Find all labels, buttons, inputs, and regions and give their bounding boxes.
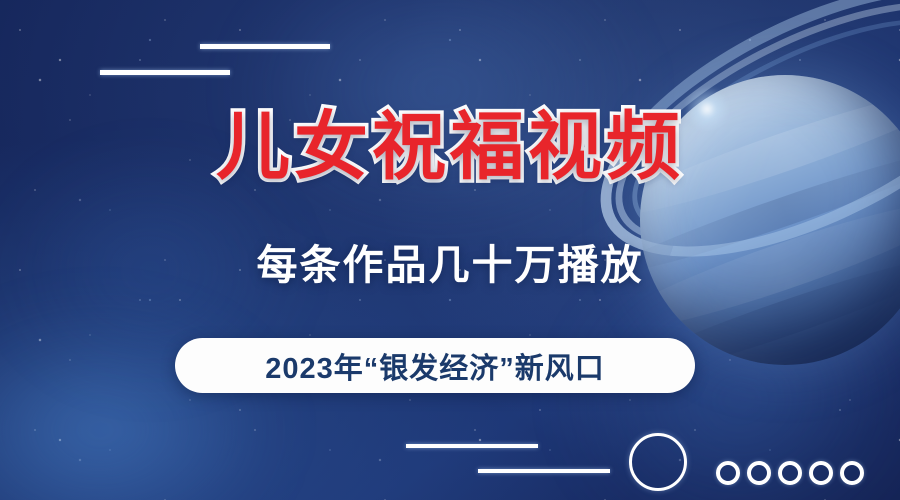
dot-ring-icon xyxy=(840,461,864,485)
dot-ring-icon xyxy=(747,461,771,485)
status-badge-label: 2023年“银发经济”新风口 xyxy=(265,345,605,387)
ringed-planet-icon xyxy=(600,0,900,390)
subtitle: 每条作品几十万播放 xyxy=(0,240,900,290)
status-badge: 2023年“银发经济”新风口 xyxy=(175,338,695,393)
page-title: 儿女祝福视频 xyxy=(0,104,900,190)
dot-ring-icon xyxy=(716,461,740,485)
dot-ring-icon xyxy=(809,461,833,485)
dot-ring-icon xyxy=(778,461,802,485)
bottom-line-lower xyxy=(478,469,610,473)
big-ring-icon xyxy=(629,433,687,491)
top-line-lower xyxy=(100,70,230,75)
promo-poster: 儿女祝福视频 每条作品几十万播放 2023年“银发经济”新风口 xyxy=(0,0,900,500)
top-line-upper xyxy=(200,44,330,49)
nebula-glow-lower-left xyxy=(0,300,290,500)
bottom-line-upper xyxy=(406,444,538,448)
